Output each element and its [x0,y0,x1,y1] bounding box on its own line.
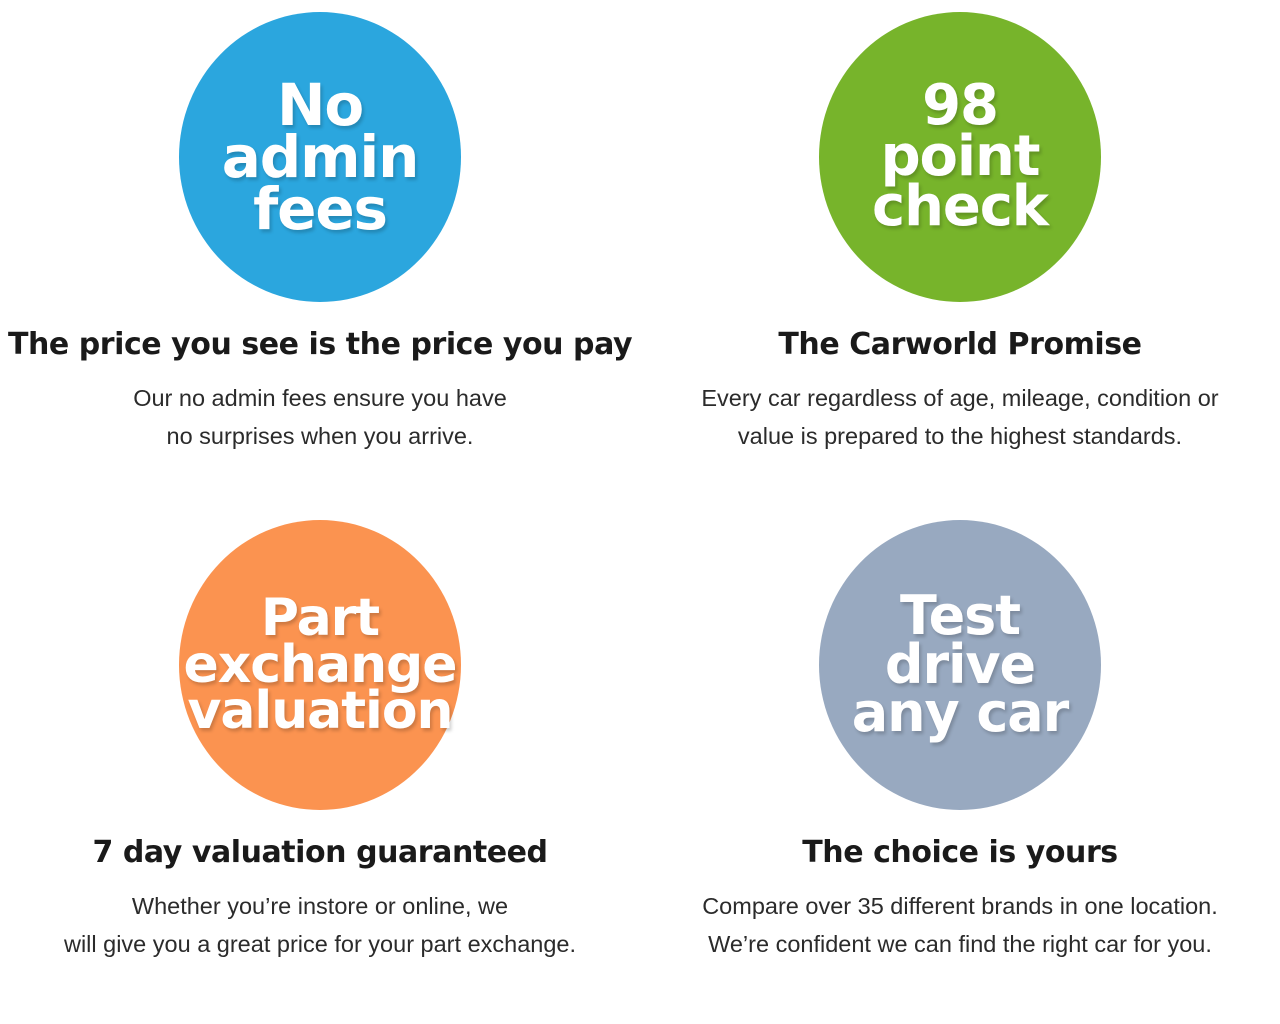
feature-body: Our no admin fees ensure you have no sur… [133,379,507,455]
badge-line-3: any car [852,689,1068,738]
feature-card-98-point-check: 98 point check The Carworld Promise Ever… [640,12,1280,512]
feature-card-no-admin-fees: No admin fees The price you see is the p… [0,12,640,512]
feature-heading: The Carworld Promise [778,328,1141,361]
feature-body: Compare over 35 different brands in one … [702,887,1218,963]
feature-card-part-exchange-valuation: Part exchange valuation 7 day valuation … [0,512,640,1012]
feature-heading: The price you see is the price you pay [8,328,632,361]
feature-card-test-drive-any-car: Test drive any car The choice is yours C… [640,512,1280,1012]
badge-line-3: valuation [184,688,457,735]
feature-body: Whether you’re instore or online, we wil… [64,887,576,963]
badge-line-3: check [872,182,1048,232]
badge-text: No admin fees [222,79,418,236]
features-grid: No admin fees The price you see is the p… [0,0,1280,1024]
feature-heading: 7 day valuation guaranteed [92,836,547,869]
badge-text: Part exchange valuation [184,595,457,735]
part-exchange-valuation-badge: Part exchange valuation [179,520,461,810]
feature-body: Every car regardless of age, mileage, co… [701,379,1218,455]
badge-text: Test drive any car [852,592,1068,738]
98-point-check-badge: 98 point check [819,12,1101,302]
badge-text: 98 point check [872,81,1048,232]
test-drive-any-car-badge: Test drive any car [819,520,1101,810]
feature-heading: The choice is yours [802,836,1117,869]
no-admin-fees-badge: No admin fees [179,12,461,302]
badge-line-3: fees [222,183,418,235]
